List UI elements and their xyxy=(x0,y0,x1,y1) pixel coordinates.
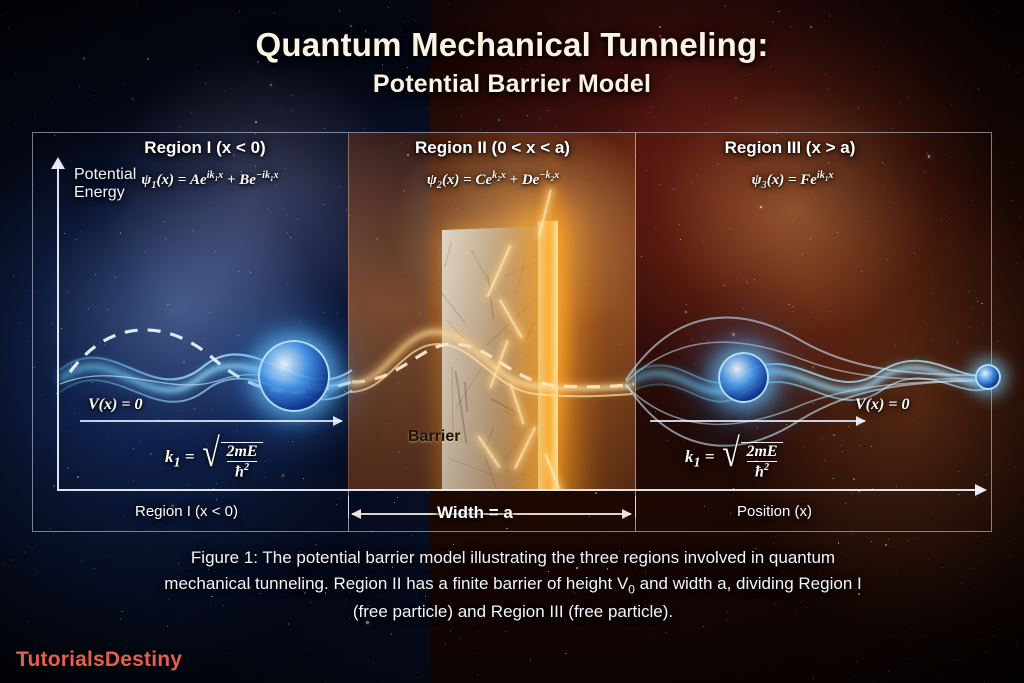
outgoing-particle xyxy=(975,364,1001,390)
region-1-wavenumber-formula: k1 = √ 2mE ħ2 xyxy=(165,437,263,481)
region-3-wavenumber-formula: k1 = √ 2mE ħ2 xyxy=(685,437,783,481)
fraction-right: 2mE ħ2 xyxy=(741,442,782,481)
region-3-wavefunction: ψ3(x) = Feik1x xyxy=(655,170,930,191)
x-axis xyxy=(57,489,982,491)
region-3-flow-arrow xyxy=(650,420,865,422)
caption-subscript: 0 xyxy=(628,583,635,597)
region-1-heading: Region I (x < 0) xyxy=(80,138,330,158)
region-3-potential-note: V(x) = 0 xyxy=(855,396,909,414)
k1-numerator-left: 2mE xyxy=(224,443,259,461)
region-1-flow-arrow xyxy=(80,420,342,422)
radical-sign-icon: √ xyxy=(202,437,220,481)
figure-canvas: Quantum Mechanical Tunneling: Potential … xyxy=(0,0,1024,683)
region-1-wavefunction: ψ1(x) = Aeik1x + Be−ik1x xyxy=(85,170,335,191)
region-divider-2 xyxy=(635,133,636,531)
region-3-heading: Region III (x > a) xyxy=(650,138,930,158)
x-axis-label: Position (x) xyxy=(737,503,812,520)
incident-particle xyxy=(258,340,330,412)
x-axis-region-1-label: Region I (x < 0) xyxy=(135,503,238,520)
k1-label-left: k1 = xyxy=(165,447,195,471)
barrier-slab xyxy=(442,226,547,490)
k1-numerator-right: 2mE xyxy=(744,443,779,461)
caption-line-3: (free particle) and Region III (free par… xyxy=(353,602,673,621)
caption-line-2c: and width a, dividing Region I xyxy=(635,574,862,593)
region-2-heading: Region II (0 < x < a) xyxy=(360,138,625,158)
k1-label-right: k1 = xyxy=(685,447,715,471)
radical-right: √ 2mE ħ2 xyxy=(720,437,783,481)
watermark: TutorialsDestiny xyxy=(16,648,182,672)
k1-denominator-left: ħ2 xyxy=(227,461,257,481)
radical-sign-icon: √ xyxy=(722,437,740,481)
y-axis xyxy=(57,165,59,490)
axis-tick-barrier-end xyxy=(635,496,636,518)
barrier-width-label: Width = a xyxy=(430,503,520,523)
radical-left: √ 2mE ħ2 xyxy=(200,437,263,481)
x-axis-arrowhead xyxy=(975,484,987,496)
barrier-glowing-face xyxy=(538,221,558,490)
caption-line-2a: mechanical tunneling. Region II has a fi… xyxy=(164,574,628,593)
page-title: Quantum Mechanical Tunneling: xyxy=(0,26,1024,64)
barrier-label: Barrier xyxy=(408,428,460,446)
axis-tick-barrier-start xyxy=(348,496,349,518)
transmitted-particle xyxy=(718,352,769,403)
region-1-potential-note: V(x) = 0 xyxy=(88,396,142,414)
caption-line-1: Figure 1: The potential barrier model il… xyxy=(191,548,835,567)
figure-caption: Figure 1: The potential barrier model il… xyxy=(118,545,908,626)
page-subtitle: Potential Barrier Model xyxy=(0,70,1024,99)
region-2-wavefunction: ψ2(x) = Cek2x + De−k2x xyxy=(362,170,624,191)
fraction-left: 2mE ħ2 xyxy=(221,442,262,481)
k1-denominator-right: ħ2 xyxy=(747,461,777,481)
